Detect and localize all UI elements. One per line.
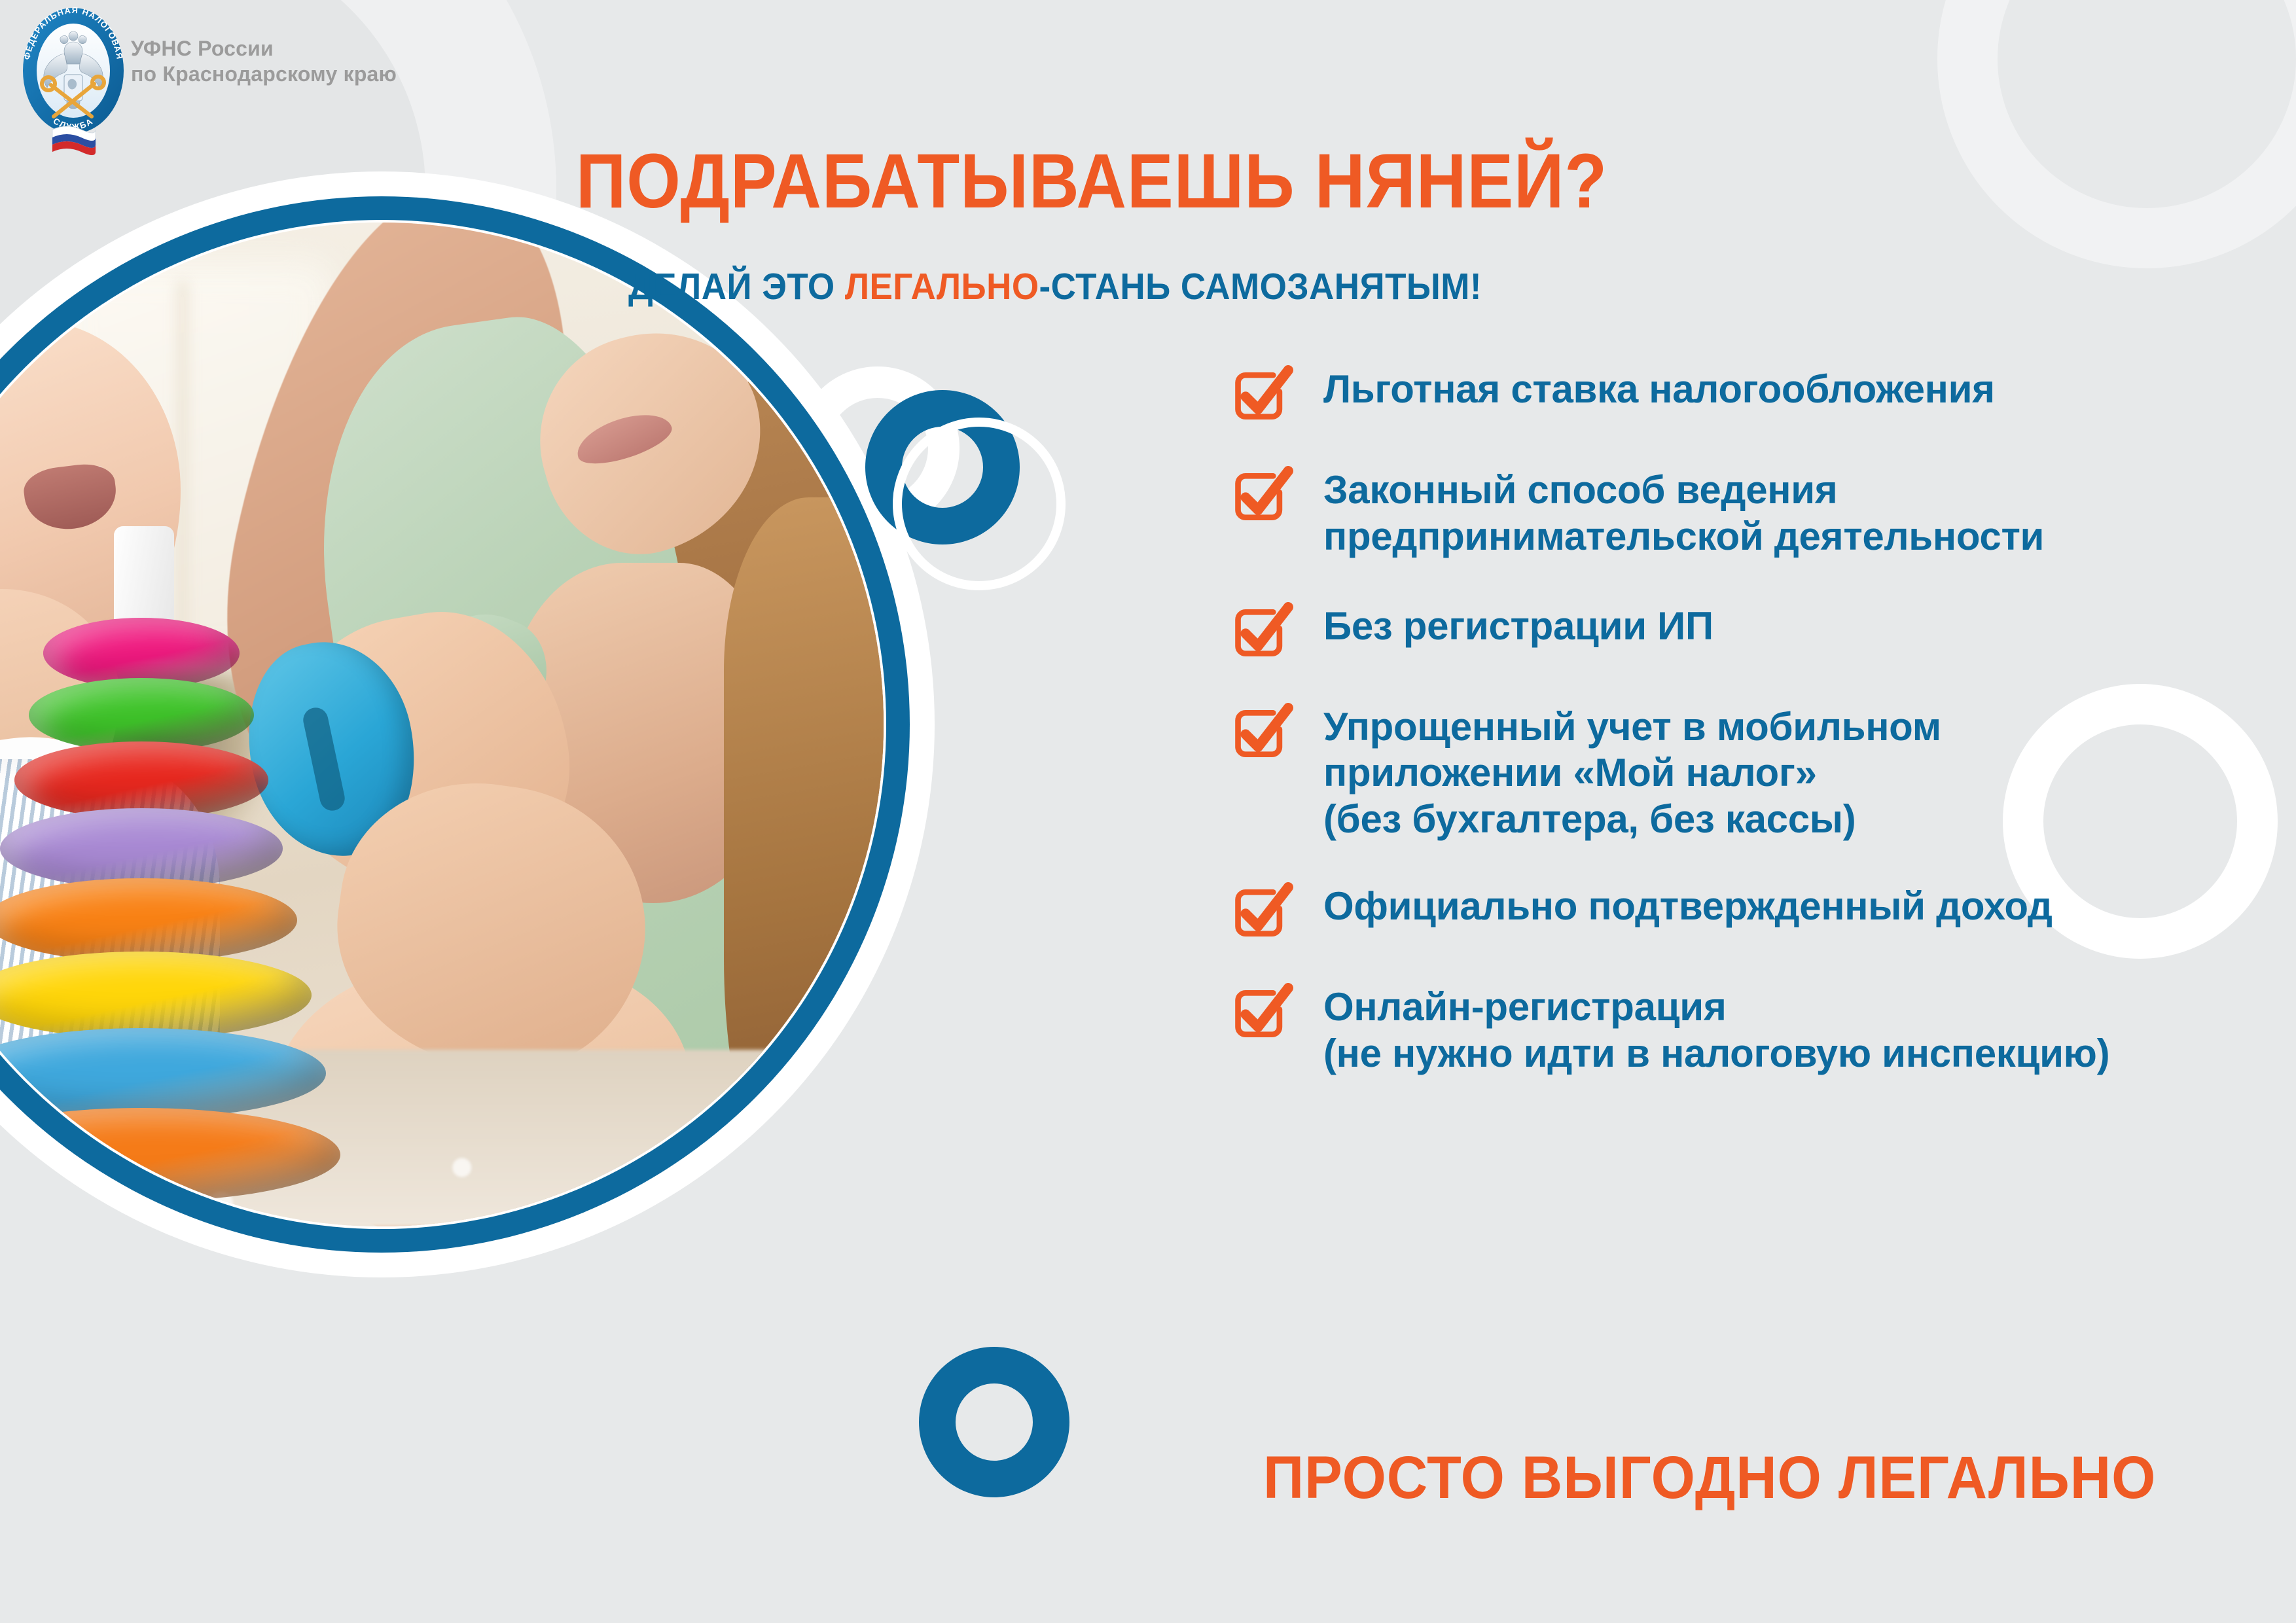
list-item: Льготная ставка налогообложения — [1230, 364, 2278, 428]
photo-white-inner-ring — [0, 220, 886, 1229]
photo-blue-ring — [0, 196, 910, 1253]
toy-ring — [0, 808, 283, 889]
subtitle-part-1: ДЕЛАЙ ЭТО — [628, 266, 845, 308]
checkbox-checked-icon — [1230, 365, 1293, 428]
page-subtitle: ДЕЛАЙ ЭТО ЛЕГАЛЬНО-СТАНЬ САМОЗАНЯТЫМ! — [628, 268, 1482, 306]
benefit-label: Без регистрации ИП — [1323, 601, 1713, 650]
decorative-ring-bottom-blue — [919, 1347, 1069, 1497]
checkbox-checked-icon — [1230, 703, 1293, 766]
photo-scene — [0, 223, 884, 1226]
list-item: Упрощенный учет в мобильном приложении «… — [1230, 702, 2278, 843]
checkbox-checked-icon — [1230, 602, 1293, 665]
fns-emblem-logo: ФЕДЕРАЛЬНАЯ НАЛОГОВАЯ СЛУЖБА — [14, 7, 132, 157]
organization-name: УФНС России по Краснодарскому краю — [131, 36, 397, 87]
subtitle-highlight: ЛЕГАЛЬНО — [845, 266, 1039, 308]
benefit-label: Льготная ставка налогообложения — [1323, 364, 1995, 413]
benefit-label: Онлайн-регистрация (не нужно идти в нало… — [1323, 982, 2109, 1077]
benefit-label: Законный способ ведения предпринимательс… — [1323, 465, 2044, 560]
subtitle-part-3: -СТАНЬ САМОЗАНЯТЫМ! — [1039, 266, 1482, 308]
list-item: Официально подтвержденный доход — [1230, 881, 2278, 945]
toy-ring — [0, 1028, 326, 1118]
list-item: Законный способ ведения предпринимательс… — [1230, 465, 2278, 560]
checkbox-checked-icon — [1230, 983, 1293, 1046]
footer-slogan: ПРОСТО ВЫГОДНО ЛЕГАЛЬНО — [1263, 1448, 2156, 1508]
toy-ring — [0, 952, 312, 1039]
toy-ring — [0, 878, 297, 962]
stacking-ring-toy — [0, 533, 325, 1174]
poster-canvas: ФЕДЕРАЛЬНАЯ НАЛОГОВАЯ СЛУЖБА УФНС России… — [0, 0, 2296, 1623]
list-item: Онлайн-регистрация (не нужно идти в нало… — [1230, 982, 2278, 1077]
list-item: Без регистрации ИП — [1230, 601, 2278, 665]
benefits-list: Льготная ставка налогообложения Законный… — [1230, 364, 2278, 1114]
nanny-and-child-photo — [0, 223, 884, 1226]
checkbox-checked-icon — [1230, 466, 1293, 529]
checkbox-checked-icon — [1230, 882, 1293, 945]
benefit-label: Официально подтвержденный доход — [1323, 881, 2053, 930]
decorative-ring-mid-blue — [865, 390, 1020, 544]
photo-circle-frame — [0, 171, 935, 1277]
toy-ring — [14, 741, 268, 819]
benefit-label: Упрощенный учет в мобильном приложении «… — [1323, 702, 1941, 843]
decorative-ring-top-right — [1937, 0, 2296, 268]
page-title: ПОДРАБАТЫВАЕШЬ НЯНЕЙ? — [576, 143, 1607, 220]
